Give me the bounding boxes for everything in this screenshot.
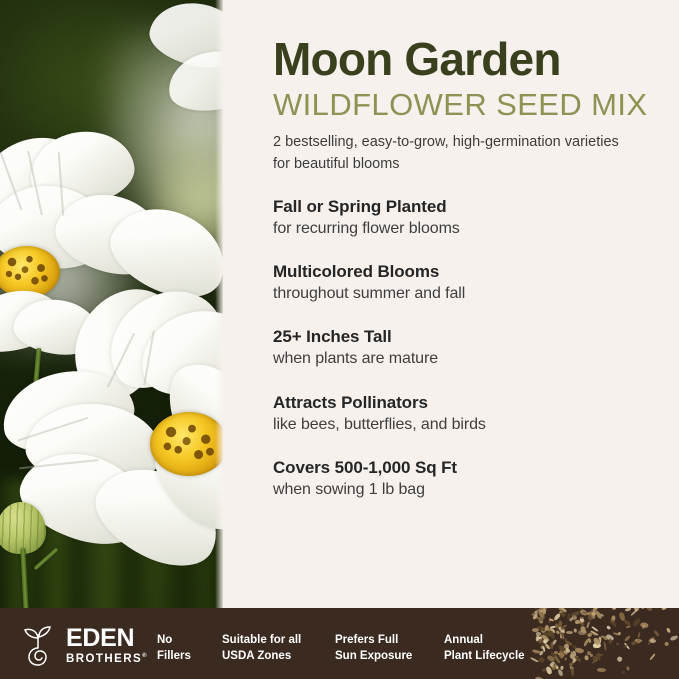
feature-badges: No Fillers Suitable for all USDA Zones P…	[157, 632, 525, 665]
seed	[650, 638, 656, 642]
feature-subtext: throughout summer and fall	[273, 283, 633, 305]
feature-subtext: when sowing 1 lb bag	[273, 479, 633, 501]
footer-bar: EDEN BROTHERS® No Fillers Suitable for a…	[0, 608, 679, 679]
list-item: Covers 500-1,000 Sq Ft when sowing 1 lb …	[273, 457, 633, 501]
brand-name-secondary: BROTHERS®	[66, 653, 147, 665]
seed	[574, 629, 578, 633]
seed	[587, 637, 591, 642]
seed	[564, 657, 567, 661]
flower-center	[150, 412, 223, 476]
product-photo	[0, 0, 223, 679]
page-title: Moon Garden	[273, 36, 561, 82]
seed	[625, 608, 632, 611]
seed	[621, 670, 625, 674]
seed	[538, 657, 545, 663]
status-badge: Annual Plant Lifecycle	[444, 632, 525, 665]
feature-subtext: for recurring flower blooms	[273, 218, 633, 240]
seed	[608, 638, 611, 644]
seed	[669, 634, 678, 641]
brand-logo: EDEN BROTHERS®	[18, 626, 147, 666]
feature-heading: Attracts Pollinators	[273, 392, 633, 414]
badge-line-1: Suitable for all	[222, 632, 335, 648]
seed	[626, 667, 630, 671]
list-item: Fall or Spring Planted for recurring flo…	[273, 196, 633, 240]
brand-wordmark: EDEN BROTHERS®	[66, 626, 147, 665]
seed	[536, 632, 541, 636]
badge-line-2: USDA Zones	[222, 648, 335, 664]
seed-pile	[529, 608, 679, 679]
seed	[645, 608, 654, 612]
status-badge: No Fillers	[157, 632, 222, 665]
seed	[606, 625, 611, 630]
product-subtitle: WILDFLOWER SEED MIX	[273, 89, 647, 120]
seed	[579, 616, 583, 619]
seed	[557, 669, 563, 677]
list-item: Attracts Pollinators like bees, butterfl…	[273, 392, 633, 436]
seed	[586, 622, 590, 629]
product-marketing-card: Moon Garden WILDFLOWER SEED MIX 2 bestse…	[0, 0, 679, 679]
sprout-icon	[18, 626, 60, 666]
seed	[616, 643, 619, 646]
seed	[584, 655, 589, 660]
seed	[616, 656, 622, 662]
feature-subtext: when plants are mature	[273, 348, 633, 370]
seed	[596, 654, 604, 656]
seed	[575, 656, 582, 663]
feature-heading: 25+ Inches Tall	[273, 326, 633, 348]
seed	[623, 635, 630, 642]
badge-line-2: Plant Lifecycle	[444, 648, 525, 664]
seed	[664, 641, 669, 646]
seed	[597, 668, 606, 672]
seed	[587, 651, 591, 655]
seed	[603, 642, 607, 651]
trademark-symbol: ®	[142, 653, 146, 659]
photo-soft-edge	[215, 0, 223, 679]
badge-line-2: Fillers	[157, 648, 222, 664]
feature-heading: Fall or Spring Planted	[273, 196, 633, 218]
seed	[578, 630, 587, 635]
info-panel: Moon Garden WILDFLOWER SEED MIX 2 bestse…	[223, 0, 679, 679]
badge-line-1: Prefers Full	[335, 632, 444, 648]
list-item: 25+ Inches Tall when plants are mature	[273, 326, 633, 370]
seed	[566, 631, 573, 634]
brand-name-primary: EDEN	[66, 626, 147, 651]
seed	[609, 618, 617, 627]
seed	[532, 615, 536, 619]
feature-subtext: like bees, butterflies, and birds	[273, 414, 633, 436]
seed	[550, 642, 553, 649]
seed	[638, 632, 641, 638]
seed	[641, 608, 645, 609]
badge-line-1: No	[157, 632, 222, 648]
seed	[653, 630, 660, 638]
feature-heading: Covers 500-1,000 Sq Ft	[273, 457, 633, 479]
badge-line-1: Annual	[444, 632, 525, 648]
feature-list: Fall or Spring Planted for recurring flo…	[273, 196, 633, 501]
status-badge: Prefers Full Sun Exposure	[335, 632, 444, 665]
seed	[650, 653, 656, 660]
badge-line-2: Sun Exposure	[335, 648, 444, 664]
seed	[630, 609, 638, 616]
list-item: Multicolored Blooms throughout summer an…	[273, 261, 633, 305]
product-lede: 2 bestselling, easy-to-grow, high-germin…	[273, 131, 623, 175]
feature-heading: Multicolored Blooms	[273, 261, 633, 283]
status-badge: Suitable for all USDA Zones	[222, 632, 335, 665]
seed	[603, 636, 608, 640]
seed	[666, 627, 671, 632]
seed	[612, 608, 616, 610]
seed	[636, 638, 641, 644]
